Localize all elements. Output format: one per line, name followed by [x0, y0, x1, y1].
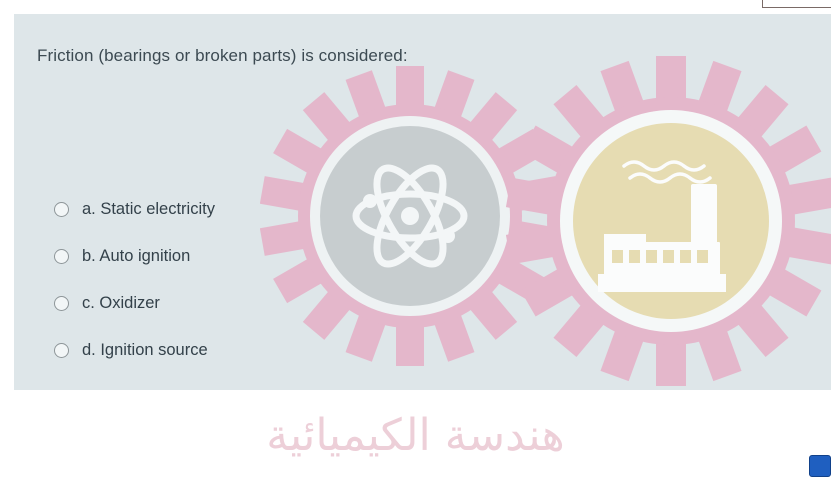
gear-right-decoration	[506, 56, 831, 386]
arabic-watermark-text: هندسة الكيميائية	[0, 410, 831, 461]
answer-options-list: a. Static electricity b. Auto ignition c…	[54, 186, 354, 374]
question-card: Friction (bearings or broken parts) is c…	[14, 14, 831, 390]
question-prompt: Friction (bearings or broken parts) is c…	[37, 46, 408, 66]
radio-button-b[interactable]	[54, 249, 69, 264]
radio-button-d[interactable]	[54, 343, 69, 358]
corner-blue-square[interactable]	[809, 455, 831, 477]
atom-icon	[356, 158, 464, 274]
option-row-b[interactable]: b. Auto ignition	[54, 233, 354, 280]
option-label-b: b. Auto ignition	[82, 247, 190, 266]
atom-nucleus	[363, 194, 455, 243]
radio-button-c[interactable]	[54, 296, 69, 311]
gear-teeth-right	[506, 56, 831, 386]
option-row-d[interactable]: d. Ignition source	[54, 327, 354, 374]
option-label-d: d. Ignition source	[82, 341, 208, 360]
option-row-c[interactable]: c. Oxidizer	[54, 280, 354, 327]
option-label-a: a. Static electricity	[82, 200, 215, 219]
right-gear-inner-circle	[573, 123, 769, 319]
top-right-panel-edge	[762, 0, 831, 8]
radio-button-a[interactable]	[54, 202, 69, 217]
screenshot-root: Friction (bearings or broken parts) is c…	[0, 0, 831, 477]
factory-icon	[598, 162, 726, 292]
option-row-a[interactable]: a. Static electricity	[54, 186, 354, 233]
option-label-c: c. Oxidizer	[82, 294, 160, 313]
